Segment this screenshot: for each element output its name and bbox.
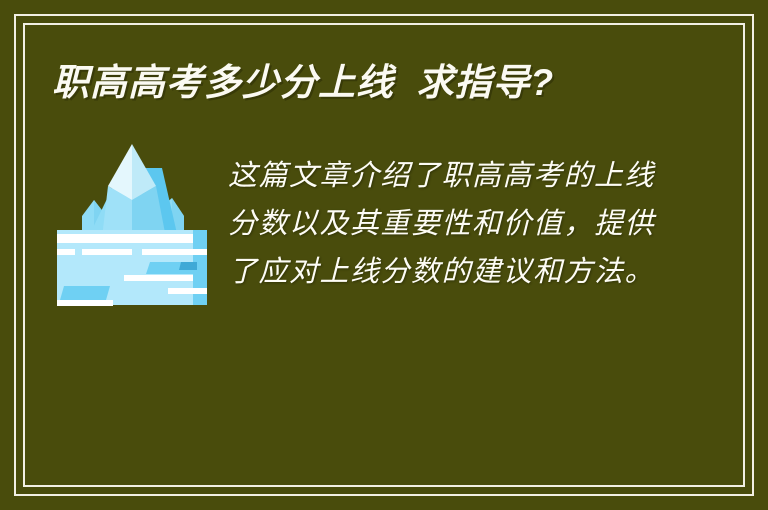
poster-canvas: 职高高考多少分上线 求指导? bbox=[0, 0, 768, 510]
body-copy: 这篇文章介绍了职高高考的上线 分数以及其重要性和价值，提供 了应对上线分数的建议… bbox=[228, 152, 648, 296]
body-line: 这篇文章介绍了职高高考的上线 bbox=[228, 152, 648, 200]
body-line: 分数以及其重要性和价值，提供 bbox=[228, 200, 648, 248]
iceberg-illustration bbox=[50, 138, 215, 313]
body-line: 了应对上线分数的建议和方法。 bbox=[228, 248, 648, 296]
page-title: 职高高考多少分上线 求指导? bbox=[52, 60, 712, 106]
